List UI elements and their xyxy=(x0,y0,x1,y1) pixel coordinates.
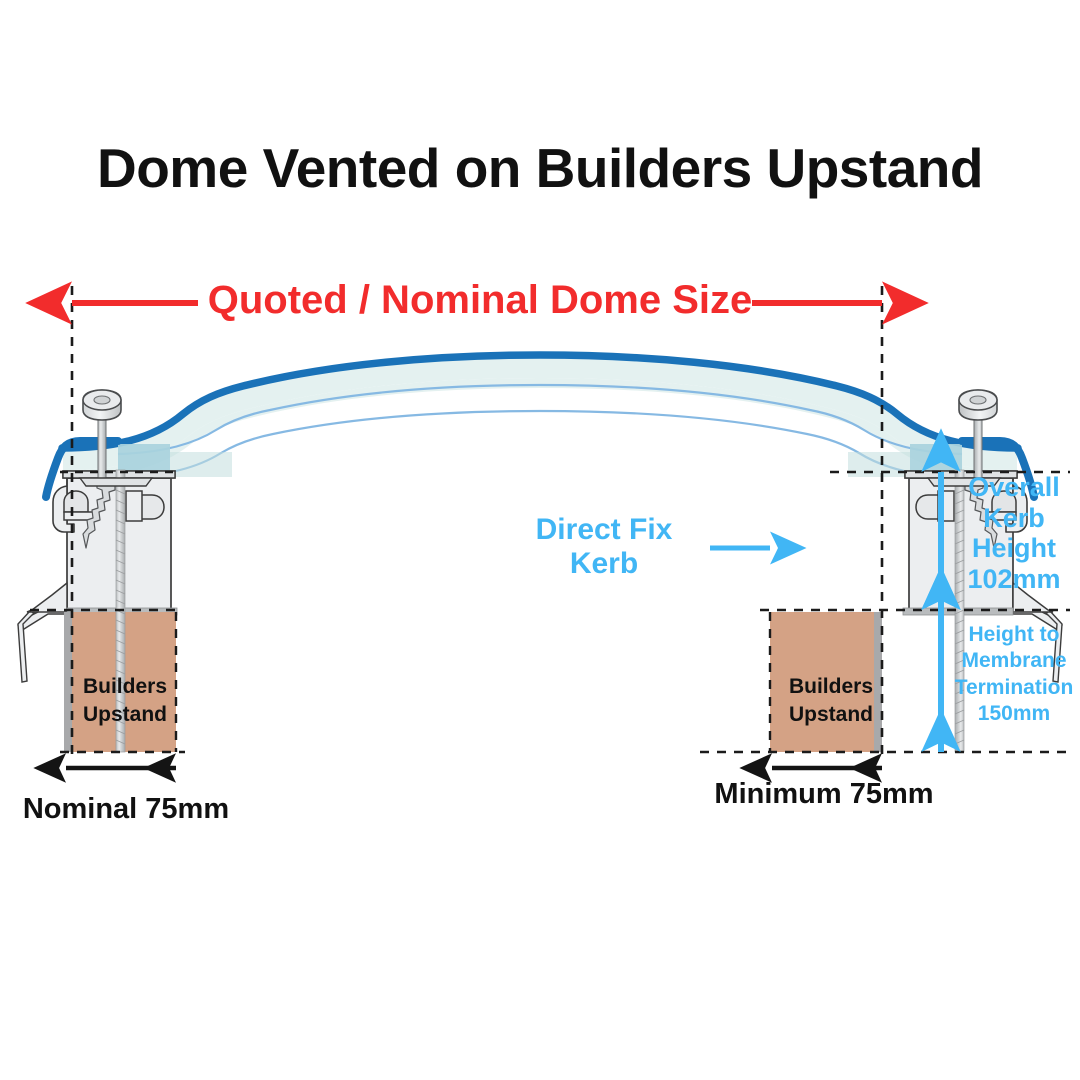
diagram-canvas: Dome Vented on Builders Upstand Quoted /… xyxy=(0,0,1080,1080)
direct-fix-kerb-label: Direct Fix Kerb xyxy=(505,513,703,581)
minimum-75mm-label: Minimum 75mm xyxy=(706,778,942,811)
builders-upstand-label-left: Builders Upstand xyxy=(62,673,188,728)
page-title: Dome Vented on Builders Upstand xyxy=(0,136,1080,200)
builders-upstand-label-right: Builders Upstand xyxy=(768,673,894,728)
nominal-75mm-label: Nominal 75mm xyxy=(10,793,242,826)
overall-kerb-height-label: Overall Kerb Height 102mm xyxy=(950,472,1078,594)
dome-size-label: Quoted / Nominal Dome Size xyxy=(190,278,770,323)
membrane-termination-label: Height to Membrane Termination 150mm xyxy=(948,622,1080,727)
